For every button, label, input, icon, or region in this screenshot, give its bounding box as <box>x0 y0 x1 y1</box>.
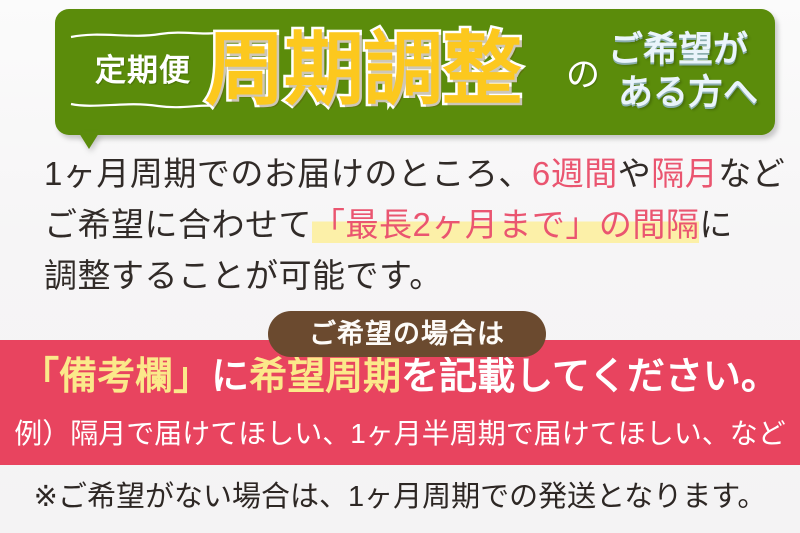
body-line-1-emphasis-2: 隔月 <box>651 155 718 192</box>
pink-band-example: 例）隔月で届けてほしい、1ヶ月半周期で届けてほしい、など <box>0 420 800 448</box>
request-case-pill: ご希望の場合は <box>268 311 546 357</box>
pink-headline-emphasis-2: 希望周期 <box>249 356 401 398</box>
pink-headline-emphasis-1: 「備考欄」 <box>21 356 211 398</box>
wavy-line-top-icon <box>70 30 216 40</box>
body-line-1-tail: など <box>718 155 785 192</box>
subscription-badge: 定期便 <box>68 28 218 112</box>
promo-banner: 定期便 周期調整 の ご希望が ある方へ 1ヶ月周期でのお届けのところ、6週間や… <box>0 0 800 533</box>
request-case-pill-label: ご希望の場合は <box>309 321 505 348</box>
header-right-line-2: ある方へ <box>608 72 772 113</box>
header-right-line-1: ご希望が <box>608 29 772 70</box>
body-line-1-middle: や <box>618 155 652 192</box>
header-right-text: ご希望が ある方へ <box>608 22 772 120</box>
header-speech-tail-icon <box>79 133 99 149</box>
subscription-badge-label: 定期便 <box>95 55 191 86</box>
footer-note: ※ご希望がない場合は、1ヶ月周期での発送となります。 <box>0 483 800 512</box>
body-line-2-part1: ご希望に合わせて <box>44 206 312 243</box>
wavy-line-bottom-icon <box>70 100 216 110</box>
body-line-1: 1ヶ月周期でのお届けのところ、6週間や隔月など <box>44 148 768 199</box>
header-title: 周期調整 <box>205 18 565 122</box>
body-line-3: 調整することが可能です。 <box>44 250 768 301</box>
pink-headline-tail: を記載してください。 <box>401 356 779 398</box>
pink-headline-middle: に <box>211 356 249 398</box>
body-line-1-part1: 1ヶ月周期でのお届けのところ、 <box>44 155 532 192</box>
body-line-2-highlight: 「最長2ヶ月まで」の間隔 <box>312 206 699 243</box>
pink-band-headline: 「備考欄」に希望周期を記載してください。 <box>0 358 800 396</box>
header-particle: の <box>566 58 600 92</box>
body-line-1-emphasis-1: 6週間 <box>532 155 618 192</box>
body-line-2: ご希望に合わせて「最長2ヶ月まで」の間隔に <box>44 199 768 250</box>
body-copy: 1ヶ月周期でのお届けのところ、6週間や隔月など ご希望に合わせて「最長2ヶ月まで… <box>44 148 768 301</box>
header-title-text: 周期調整 <box>205 30 521 110</box>
body-line-2-tail: に <box>699 206 733 243</box>
